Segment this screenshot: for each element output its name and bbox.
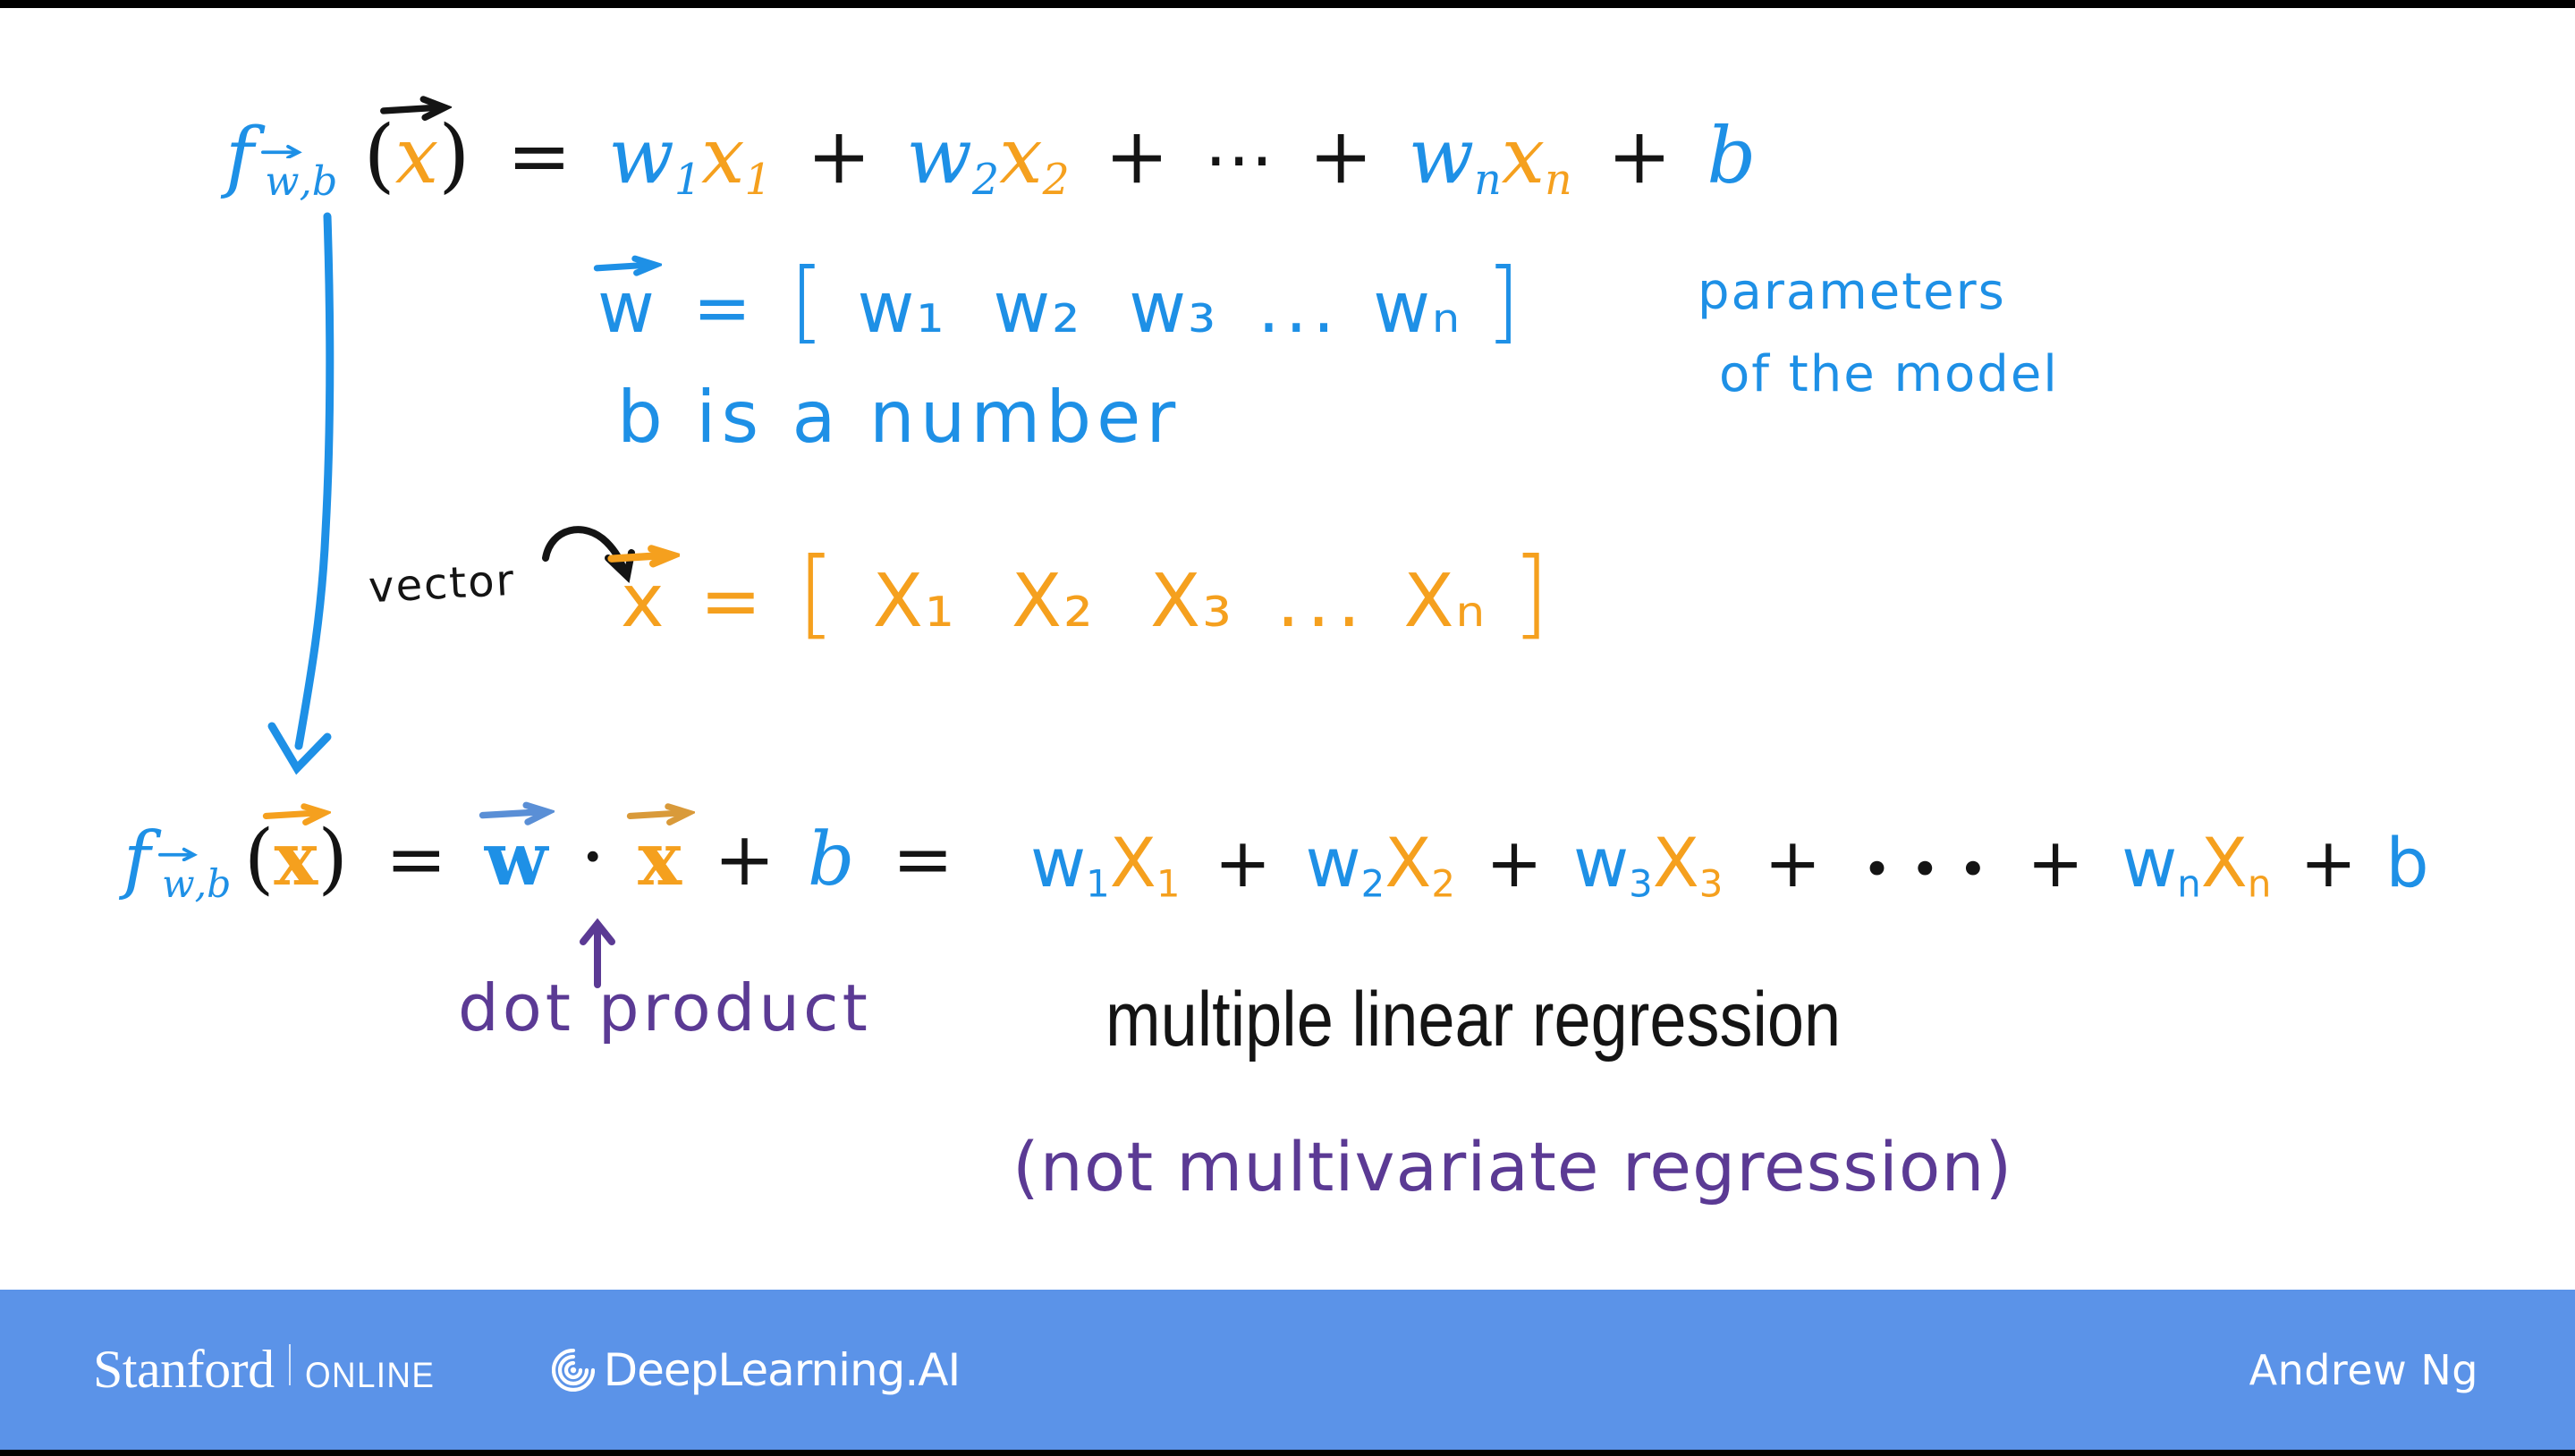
w-vector-line: w = [ w₁ w₂ w₃ ... wₙ ]: [597, 257, 1522, 346]
b-is-a-number-note: b is a number: [617, 382, 1181, 453]
f-sub-comma-b: ,b: [300, 157, 338, 205]
w-entry-2: w₂: [993, 268, 1081, 349]
dot-operator: ·: [580, 810, 606, 904]
w-vector-symbol: w: [597, 274, 656, 343]
bx-tn-w-sub: n: [2177, 862, 2201, 906]
vec-w-bottom: w: [485, 823, 548, 896]
f-sub-comma-b-bottom: ,b: [195, 862, 232, 907]
bracket-close-x: ]: [1512, 537, 1551, 649]
f-glyph: f: [225, 112, 254, 201]
bracket-open-w: [: [790, 249, 826, 353]
paren-close-bottom: ): [318, 814, 348, 903]
bx-dots: • • •: [1862, 841, 1989, 898]
x-entry-n: Xₙ: [1403, 559, 1487, 644]
stanford-online-logo: Stanford ONLINE: [93, 1339, 446, 1401]
x-arg-bottom: x: [274, 823, 318, 896]
stanford-wordmark: Stanford: [93, 1339, 275, 1401]
bias-top: b: [1707, 112, 1756, 201]
equals-top: =: [507, 112, 572, 201]
bracket-open-x: [: [797, 537, 836, 649]
bx-tn-x: Xn: [2201, 823, 2272, 902]
bx-t3-x-sub: 3: [1699, 862, 1724, 906]
w-entry-n: wₙ: [1373, 268, 1461, 349]
w-vector-equals: =: [693, 268, 753, 349]
x-vector-line: x = [ X₁ X₂ X₃ ... Xₙ ]: [621, 545, 1552, 641]
dot-product-label: dot product: [458, 976, 871, 1040]
f-symbol-bottom: f w ,b: [123, 817, 244, 902]
equation-top: f w ,b ( x ) = w1x1 + w2x2 + ⋯ + wn: [225, 115, 1756, 202]
bx-plus-4: +: [2027, 823, 2084, 902]
bx-plus-3: +: [1765, 823, 1822, 902]
bx-bias: b: [2385, 823, 2428, 902]
bx-t1-w-sub: 1: [1086, 862, 1110, 906]
plus-4: +: [1607, 112, 1672, 201]
ellipsis-top: ⋯: [1204, 119, 1273, 199]
term2-w: w2: [906, 112, 999, 201]
plus-3: +: [1309, 112, 1373, 201]
bx-tn-w: wn: [2122, 823, 2201, 902]
w-entry-ellipsis: ...: [1258, 268, 1340, 349]
bx-plus-1: +: [1215, 823, 1272, 902]
f-sub-w: w: [265, 157, 299, 205]
bx-plus-5: +: [2300, 823, 2357, 902]
f-symbol-top: f w ,b: [225, 118, 339, 195]
f-glyph-bottom: f: [123, 817, 150, 902]
equals-bottom-2: =: [893, 817, 954, 902]
footer-bar: Stanford ONLINE DeepLearning.AI Andrew N…: [0, 1290, 2575, 1450]
w-entry-1: w₁: [858, 268, 946, 349]
term1-x: x1: [701, 112, 772, 201]
x-entry-1: X₁: [873, 559, 956, 644]
presenter-name: Andrew Ng: [2249, 1346, 2478, 1394]
vector-callout-label: vector: [368, 559, 517, 610]
vector-arrow-icon: [261, 142, 303, 158]
x-entry-3: X₃: [1150, 559, 1233, 644]
bracket-close-w: ]: [1486, 249, 1522, 353]
x-glyph-top: x: [395, 112, 439, 201]
deeplearning-ai-logo: DeepLearning.AI: [552, 1344, 961, 1396]
plus-bias-bottom: +: [714, 817, 775, 902]
termn-x-sub: n: [1545, 156, 1571, 205]
x-entry-2: X₂: [1012, 559, 1095, 644]
bx-t1-w: w1: [1030, 823, 1110, 902]
equals-bottom-1: =: [385, 817, 447, 902]
bx-tn-x-sub: n: [2248, 862, 2272, 906]
equation-bottom-left: f w ,b ( x ) = w: [123, 817, 953, 898]
bx-t1-x: X1: [1110, 823, 1181, 902]
bx-t3-w: w3: [1573, 823, 1653, 902]
letterbox-bottom: [0, 1450, 2575, 1456]
termn-w-sub: n: [1474, 156, 1501, 205]
whiteboard-canvas: f w ,b ( x ) = w1x1 + w2x2 + ⋯ + wn: [0, 8, 2575, 1290]
caveat-note: (not multivariate regression): [1012, 1133, 2012, 1201]
term2-x: x2: [999, 112, 1070, 201]
plus-2: +: [1105, 112, 1169, 201]
x-entry-ellipsis: ...: [1276, 559, 1368, 644]
vec-x-bottom: x: [638, 823, 682, 896]
w-entry-3: w₃: [1129, 268, 1217, 349]
blue-down-arrow-icon: [259, 209, 429, 782]
bx-t2-w: w2: [1305, 823, 1385, 902]
term2-x-sub: 2: [1043, 156, 1070, 205]
plus-1: +: [807, 112, 871, 201]
term1-x-sub: 1: [745, 156, 772, 205]
bias-bottom: b: [808, 817, 855, 902]
deeplearning-wordmark: DeepLearning.AI: [604, 1344, 961, 1396]
slide-title: multiple linear regression: [1105, 981, 1841, 1058]
parameters-note-line1: parameters: [1698, 267, 2006, 317]
bx-t3-w-sub: 3: [1629, 862, 1653, 906]
x-arg-top: x: [395, 118, 439, 195]
termn-x: xn: [1502, 112, 1572, 201]
x-vector-equals: =: [700, 559, 764, 644]
paren-open-top: (: [364, 108, 395, 202]
stanford-online-wordmark: ONLINE: [305, 1356, 435, 1396]
termn-w: wn: [1409, 112, 1502, 201]
term1-w-sub: 1: [674, 156, 701, 205]
x-vector-symbol: x: [621, 565, 666, 639]
bx-t3-x: X3: [1653, 823, 1724, 902]
bx-t2-w-sub: 2: [1361, 862, 1385, 906]
logo-divider: [289, 1344, 291, 1385]
equation-bottom-expanded: w1X1 + w2X2 + w3X3 + • • • + wnXn + b: [1030, 829, 2429, 903]
bx-t1-x-sub: 1: [1156, 862, 1181, 906]
paren-close-top: ): [438, 108, 470, 202]
paren-open-bottom: (: [244, 814, 275, 903]
bx-t2-x: X2: [1385, 823, 1455, 902]
term2-w-sub: 2: [972, 156, 999, 205]
bx-t2-x-sub: 2: [1431, 862, 1455, 906]
x-glyph-bottom: x: [274, 817, 318, 902]
vector-arrow-icon: [158, 845, 199, 860]
spiral-logo-icon: [552, 1349, 595, 1392]
parameters-note-line2: of the model: [1719, 350, 2059, 400]
term1-w: w1: [608, 112, 701, 201]
f-sub-w-bottom: w: [162, 862, 195, 907]
bx-plus-2: +: [1486, 823, 1543, 902]
letterbox-top: [0, 0, 2575, 8]
